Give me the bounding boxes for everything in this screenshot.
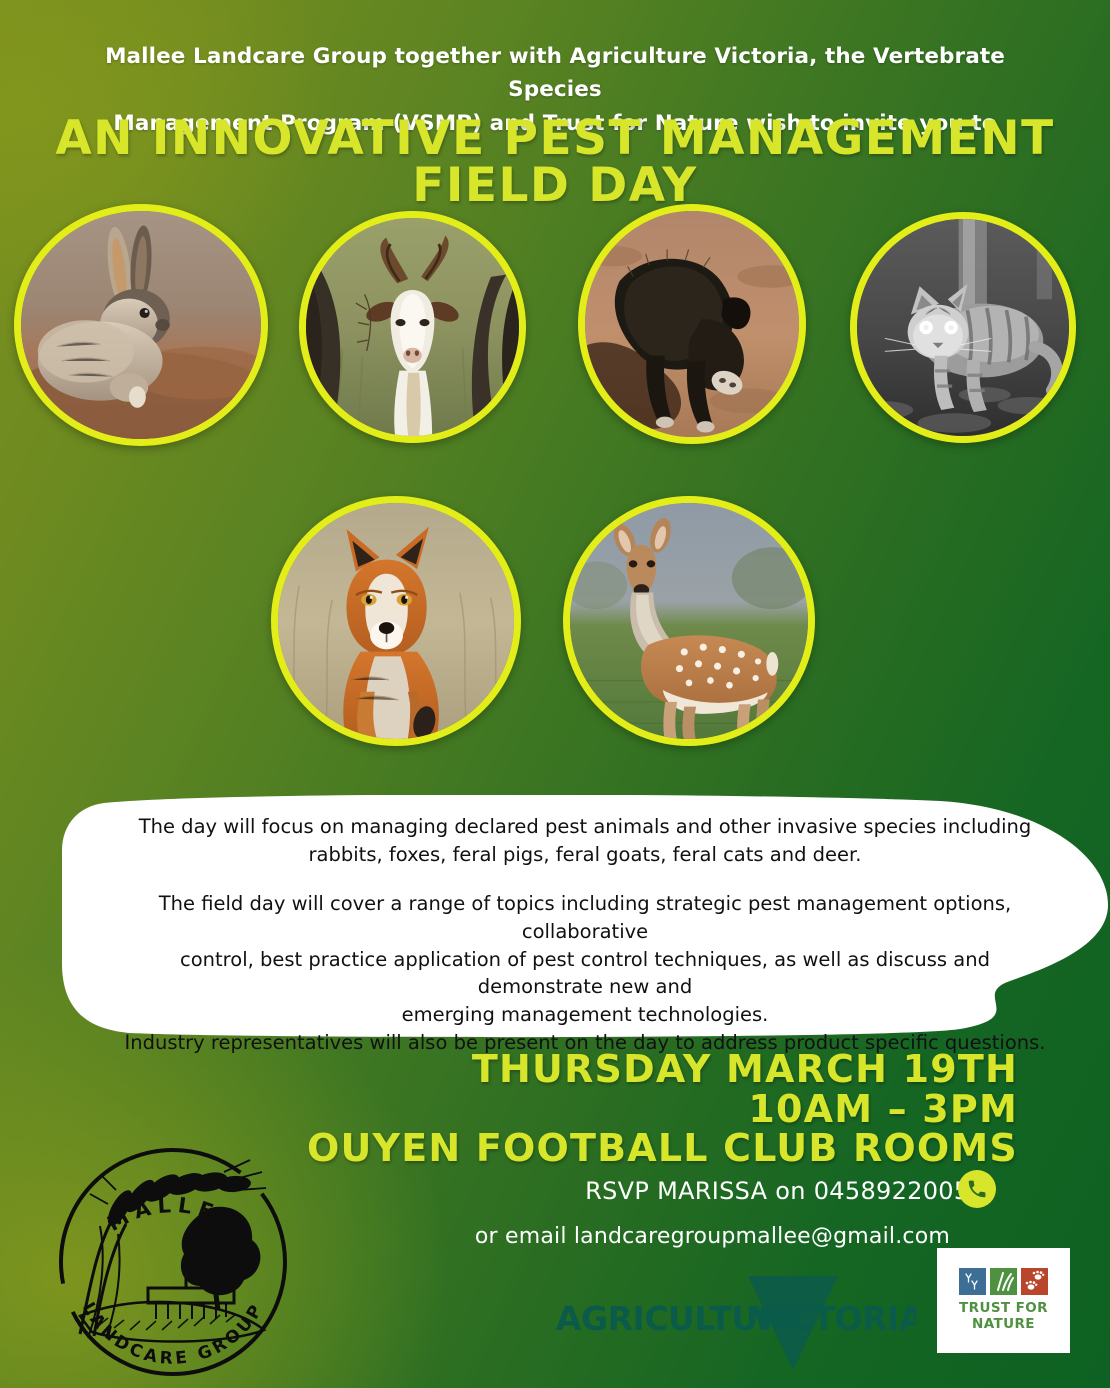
agvic-logo-graphic: AGRICULTURE VICTORIA	[556, 1268, 916, 1378]
event-date: THURSDAY MARCH 19TH	[472, 1050, 1018, 1088]
mallee-logo-bottom-text: LANDCARE GROUP	[78, 1299, 268, 1369]
paw-prints-glyph	[1021, 1268, 1048, 1295]
animal-photo-feral-pig	[578, 204, 806, 444]
animal-photo-feral-cat	[850, 212, 1076, 443]
grass-glyph	[990, 1268, 1017, 1295]
mallee-landcare-logo: MALLEE LANDCARE GROUP	[28, 1138, 318, 1378]
svg-text:LANDCARE GROUP: LANDCARE GROUP	[78, 1299, 268, 1369]
tfn-line-1: TRUST FOR	[959, 1301, 1048, 1317]
animal-photo-deer	[563, 496, 815, 746]
animal-photo-fox	[271, 496, 521, 746]
rsvp-text: RSVP MARISSA on 04589220050	[585, 1177, 985, 1205]
deer-illustration	[570, 503, 808, 739]
feral-goat-illustration	[306, 218, 519, 436]
agriculture-victoria-logo: AGRICULTURE VICTORIA	[556, 1268, 916, 1378]
body-p1-l1: The day will focus on managing declared …	[115, 813, 1055, 841]
mallee-logo-graphic: MALLEE LANDCARE GROUP	[28, 1138, 318, 1378]
feral-pig-illustration	[585, 211, 799, 437]
tfn-icon-row	[959, 1268, 1048, 1295]
event-venue: OUYEN FOOTBALL CLUB ROOMS	[307, 1129, 1018, 1167]
tfn-wordmark: TRUST FOR NATURE	[959, 1301, 1048, 1332]
tfn-line-2: NATURE	[959, 1317, 1048, 1333]
grass-icon	[990, 1268, 1017, 1295]
page-title: AN INNOVATIVE PEST MANAGEMENT FIELD DAY	[0, 115, 1110, 209]
paw-prints-icon	[1021, 1268, 1048, 1295]
fox-illustration	[278, 503, 514, 739]
rabbit-illustration	[21, 211, 261, 439]
agvic-word-victoria: VICTORIA	[752, 1299, 916, 1338]
bird-tracks-icon	[959, 1268, 986, 1295]
animal-photo-feral-goat	[299, 211, 526, 443]
info-bubble: The day will focus on managing declared …	[60, 795, 1110, 1040]
event-time: 10AM – 3PM	[748, 1090, 1018, 1128]
phone-glyph	[966, 1178, 988, 1200]
paragraph-spacer	[115, 868, 1055, 890]
intro-line-1: Mallee Landcare Group together with Agri…	[60, 40, 1050, 107]
info-bubble-text: The day will focus on managing declared …	[115, 813, 1055, 1057]
body-p2-l3: emerging management technologies.	[115, 1001, 1055, 1029]
animal-photo-rabbit	[14, 204, 268, 446]
bird-tracks-glyph	[959, 1268, 986, 1295]
body-p2-l1: The field day will cover a range of topi…	[115, 890, 1055, 945]
body-p2-l2: control, best practice application of pe…	[115, 946, 1055, 1001]
feral-cat-illustration	[857, 219, 1069, 436]
phone-icon[interactable]	[958, 1170, 996, 1208]
body-p1-l2: rabbits, foxes, feral pigs, feral goats,…	[115, 841, 1055, 869]
poster-root: Mallee Landcare Group together with Agri…	[0, 0, 1110, 1388]
email-line[interactable]: or email landcaregroupmallee@gmail.com	[475, 1224, 950, 1249]
trust-for-nature-logo: TRUST FOR NATURE	[937, 1248, 1070, 1353]
